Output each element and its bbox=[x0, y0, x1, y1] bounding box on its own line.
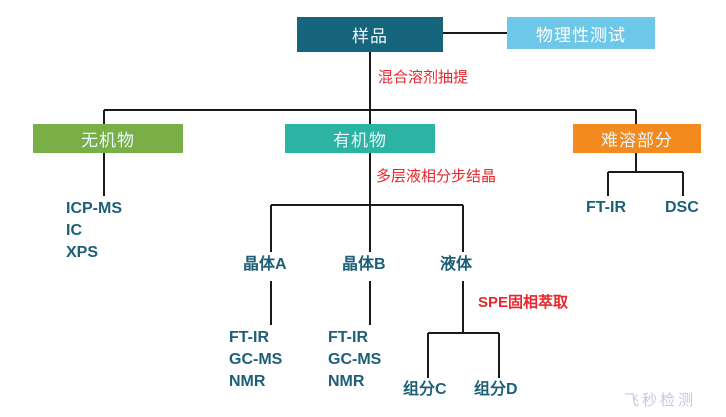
leaf-crystal-b-text: 晶体B bbox=[342, 256, 386, 273]
box-sample[interactable]: 样品 bbox=[297, 17, 443, 52]
box-insoluble[interactable]: 难溶部分 bbox=[573, 124, 701, 153]
leaf-component-d-text: 组分D bbox=[474, 381, 518, 398]
watermark: 飞秒检测 bbox=[624, 389, 696, 410]
box-sample-label: 样品 bbox=[352, 22, 388, 47]
box-organic[interactable]: 有机物 bbox=[285, 124, 435, 153]
process-label-mixed-solvent-extraction: 混合溶剂抽提 bbox=[378, 66, 468, 87]
leaf-liquid: 液体 bbox=[440, 257, 472, 273]
leaf-liquid-text: 液体 bbox=[440, 256, 472, 273]
process-label-spe-extraction: SPE固相萃取 bbox=[478, 291, 568, 312]
leaf-component-d: 组分D bbox=[474, 382, 518, 398]
leaf-insoluble-dsc-text: DSC bbox=[665, 199, 699, 216]
process-multilayer-text: 多层液相分步结晶 bbox=[376, 168, 496, 185]
leaf-crystal-a-methods: FT-IR GC-MS NMR bbox=[229, 327, 282, 393]
flowchart-canvas: 样品 物理性测试 混合溶剂抽提 无机物 有机物 难溶部分 ICP-MS IC X… bbox=[0, 0, 726, 417]
leaf-insoluble-ftir-text: FT-IR bbox=[586, 199, 626, 216]
leaf-insoluble-dsc: DSC bbox=[665, 200, 699, 216]
watermark-text: 飞秒检测 bbox=[624, 392, 696, 409]
box-inorganic[interactable]: 无机物 bbox=[33, 124, 183, 153]
leaf-component-c-text: 组分C bbox=[403, 381, 447, 398]
leaf-crystal-a-text: 晶体A bbox=[243, 256, 287, 273]
box-physical-test-label: 物理性测试 bbox=[536, 21, 626, 46]
process-spe-text: SPE固相萃取 bbox=[478, 294, 568, 311]
box-insoluble-label: 难溶部分 bbox=[601, 126, 673, 151]
leaf-crystal-b-methods-text: FT-IR GC-MS NMR bbox=[328, 329, 381, 390]
leaf-crystal-b: 晶体B bbox=[342, 257, 386, 273]
leaf-inorganic-methods-text: ICP-MS IC XPS bbox=[66, 200, 122, 261]
box-physical-test[interactable]: 物理性测试 bbox=[507, 17, 655, 49]
box-inorganic-label: 无机物 bbox=[81, 126, 135, 151]
leaf-component-c: 组分C bbox=[403, 382, 447, 398]
box-organic-label: 有机物 bbox=[333, 126, 387, 151]
process-mixed-solvent-text: 混合溶剂抽提 bbox=[378, 69, 468, 86]
leaf-inorganic-methods: ICP-MS IC XPS bbox=[66, 198, 122, 264]
leaf-crystal-b-methods: FT-IR GC-MS NMR bbox=[328, 327, 381, 393]
leaf-crystal-a: 晶体A bbox=[243, 257, 287, 273]
leaf-insoluble-ftir: FT-IR bbox=[586, 200, 626, 216]
process-label-multilayer-crystallization: 多层液相分步结晶 bbox=[376, 165, 496, 186]
leaf-crystal-a-methods-text: FT-IR GC-MS NMR bbox=[229, 329, 282, 390]
